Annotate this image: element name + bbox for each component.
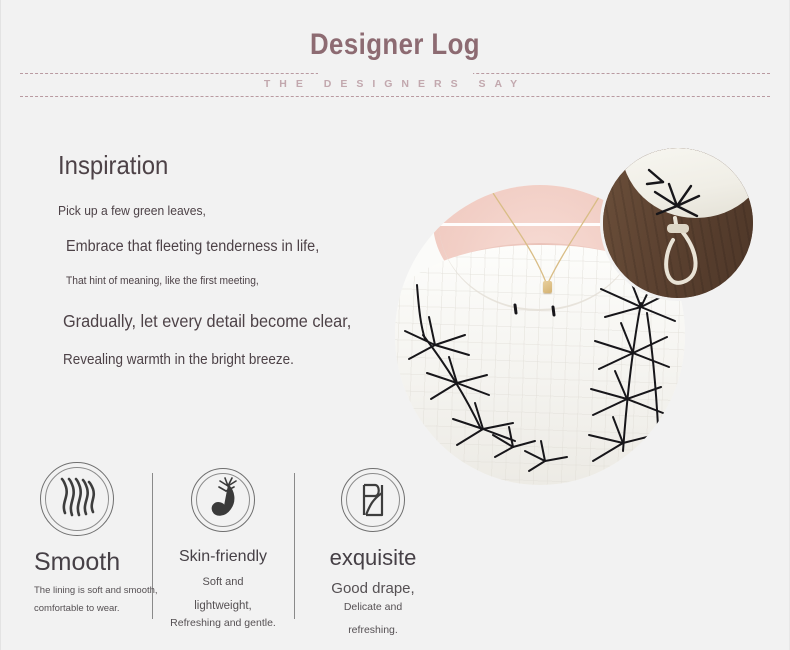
feature-item-smooth: Smooth The lining is soft and smooth, co… — [32, 460, 148, 618]
page-header: Designer Log THE DESIGNERS SAY — [0, 0, 790, 110]
product-photo-group — [395, 185, 695, 505]
feature-sub-line: refreshing. — [298, 621, 448, 641]
feature-item-exquisite: exquisite Good drape, Delicate and refre… — [298, 460, 448, 641]
feature-sub-line: Delicate and — [298, 598, 448, 618]
page-subtitle: THE DESIGNERS SAY — [0, 78, 790, 90]
drawstring-toggle-icon — [603, 148, 753, 298]
inspiration-block: Inspiration Pick up a few green leaves, … — [58, 150, 418, 368]
inspiration-line-1: Pick up a few green leaves, — [58, 203, 393, 218]
page-title: Designer Log — [55, 28, 734, 62]
feature-sub-line: comfortable to wear. — [34, 600, 148, 618]
drape-monogram-icon — [341, 468, 405, 532]
header-rule-bottom — [20, 96, 770, 97]
feature-sub-line: The lining is soft and smooth, — [34, 582, 148, 600]
product-photo-inset — [600, 145, 756, 301]
feature-title: Smooth — [34, 548, 148, 577]
feature-sub-line: Refreshing and gentle. — [156, 614, 290, 634]
feature-sub-line: Soft and — [156, 572, 290, 593]
feature-title: Skin-friendly — [156, 548, 290, 566]
feature-item-skin-friendly: Skin-friendly Soft and lightweight, Refr… — [156, 460, 290, 634]
inspiration-line-2: Embrace that fleeting tenderness in life… — [66, 238, 393, 256]
feather-icon — [191, 468, 255, 532]
inspiration-line-5: Revealing warmth in the bright breeze. — [63, 352, 393, 368]
feature-divider-2 — [294, 473, 295, 619]
feature-divider-1 — [152, 473, 153, 619]
feature-list: Smooth The lining is soft and smooth, co… — [32, 460, 482, 630]
inspiration-heading: Inspiration — [58, 150, 389, 181]
feature-title: exquisite — [298, 545, 448, 571]
steam-waves-icon — [40, 462, 114, 536]
inspiration-line-4: Gradually, let every detail become clear… — [63, 311, 393, 332]
inspiration-line-3: That hint of meaning, like the first mee… — [66, 275, 393, 287]
designer-log-page: Designer Log THE DESIGNERS SAY Inspirati… — [0, 0, 790, 650]
